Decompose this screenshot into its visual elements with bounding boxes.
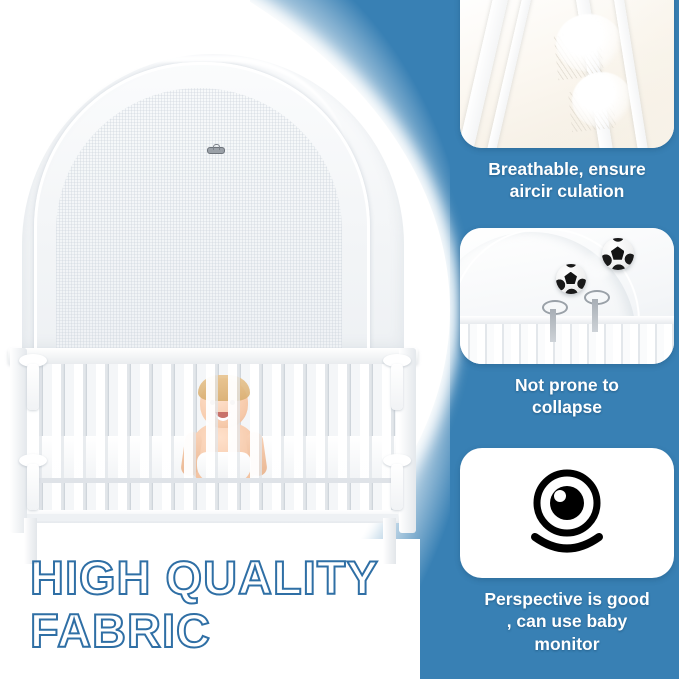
canopy-bow-tie: [380, 454, 414, 510]
cotton-fluff: [556, 14, 622, 72]
crib-slats-foreground: [30, 364, 396, 516]
feature-image-card: [460, 228, 674, 364]
cotton-fluff: [572, 72, 632, 128]
canopy-seam: [44, 56, 354, 182]
feature-item-breathable: Breathable, ensure aircir culation: [455, 0, 679, 203]
baby-monitor-camera-icon: [515, 461, 619, 565]
headline-line-2: FABRIC: [30, 605, 430, 658]
main-product-photo: [8, 48, 418, 528]
feature-caption-line-1: Not prone to: [461, 374, 673, 396]
canopy-bow-tie: [380, 354, 414, 410]
fabric-macro-photo: [460, 0, 674, 148]
headline-line-1: HIGH QUALITY: [30, 552, 430, 605]
feature-caption: Perspective is good , can use baby monit…: [455, 578, 679, 655]
crib-slats-small: [460, 324, 674, 364]
feature-image-card: [460, 448, 674, 578]
crib-rail-small: [460, 316, 674, 324]
feature-caption-line-1: Breathable, ensure: [461, 158, 673, 180]
zipper-pull-icon: [204, 144, 226, 155]
crib-foot-bar: [26, 514, 398, 521]
ribbon-tie: [542, 300, 564, 342]
feature-caption-line-3: monitor: [461, 633, 673, 655]
ribbon-tie: [584, 290, 606, 332]
canopy-bow-tie: [16, 454, 50, 510]
feature-list: Breathable, ensure aircir culation: [455, 0, 679, 679]
feature-image-card: [460, 0, 674, 148]
product-infographic: HIGH QUALITY FABRIC Breathable, ensure: [0, 0, 679, 679]
feature-caption-line-2: , can use baby: [461, 610, 673, 632]
canopy-bow-tie: [16, 354, 50, 410]
soccer-balls-bouncing-photo: [460, 228, 674, 364]
feature-caption-line-1: Perspective is good: [461, 588, 673, 610]
feature-item-baby-monitor: Perspective is good , can use baby monit…: [455, 448, 679, 655]
headline: HIGH QUALITY FABRIC: [30, 552, 430, 657]
soccer-ball-icon: [556, 264, 586, 294]
feature-caption: Breathable, ensure aircir culation: [455, 148, 679, 203]
feature-item-not-prone-to-collapse: Not prone to collapse: [455, 228, 679, 419]
feature-caption-line-2: collapse: [461, 396, 673, 418]
soccer-ball-icon: [602, 238, 634, 270]
crib-mattress-edge: [30, 478, 396, 483]
crib-top-rail: [8, 348, 418, 364]
feature-caption: Not prone to collapse: [455, 364, 679, 419]
feature-caption-line-2: aircir culation: [461, 180, 673, 202]
